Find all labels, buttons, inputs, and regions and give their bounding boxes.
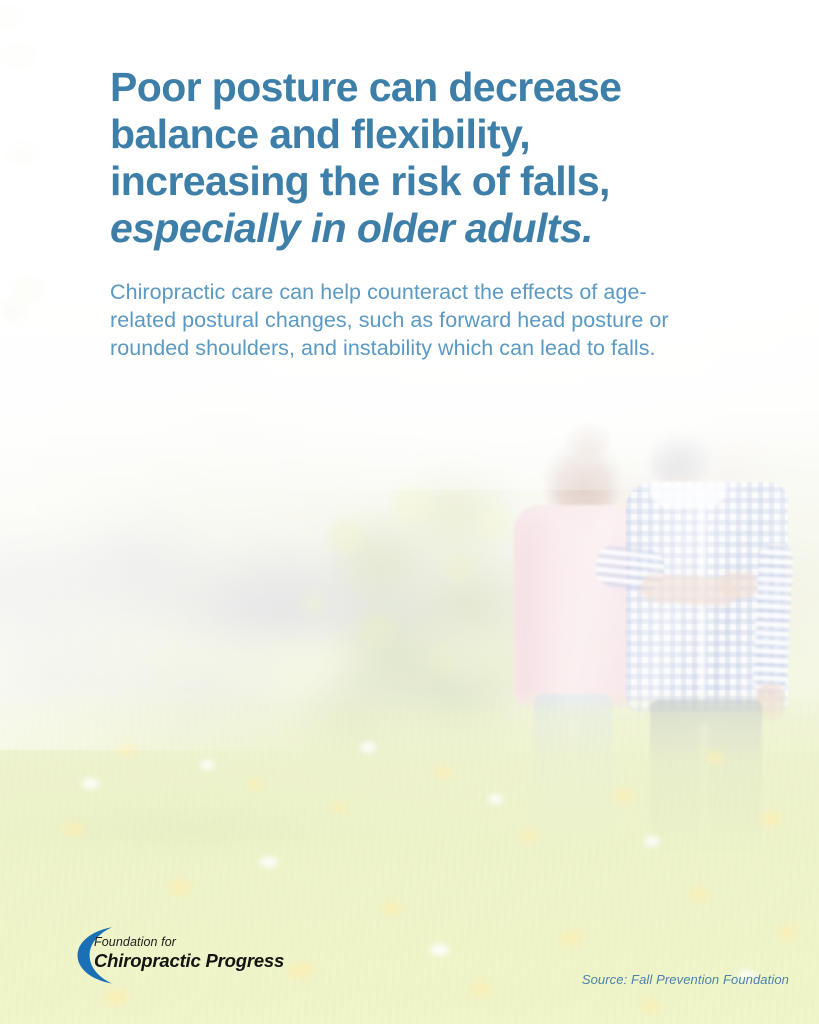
poster-canvas: Poor posture can decrease balance and fl… — [0, 0, 819, 1024]
yellow-flower — [118, 742, 138, 755]
white-flower — [200, 760, 214, 770]
white-flower — [82, 778, 99, 789]
logo-line-foundation-for: Foundation for — [94, 935, 284, 949]
yellow-flower — [330, 802, 346, 813]
white-flower — [260, 856, 278, 868]
yellow-flower — [382, 902, 402, 915]
yellow-flower — [434, 766, 453, 779]
headline-line-1: Poor posture can decrease — [110, 64, 621, 110]
source-attribution: Source: Fall Prevention Foundation — [582, 971, 789, 989]
woman-hair-bun — [566, 424, 610, 458]
white-flower — [488, 794, 503, 804]
yellow-flower — [470, 982, 492, 996]
white-flower — [430, 944, 449, 956]
yellow-flower — [640, 1000, 660, 1013]
yellow-flower — [246, 778, 263, 790]
logo-wordmark: Foundation for Chiropractic Progress — [94, 935, 284, 971]
yellow-flower — [62, 822, 84, 836]
page-title: Poor posture can decrease balance and fl… — [110, 64, 700, 252]
subcopy-paragraph: Chiropractic care can help counteract th… — [110, 278, 678, 362]
yellow-flower — [168, 880, 192, 895]
man-left-hand — [720, 572, 758, 598]
white-flower — [360, 742, 376, 753]
headline-line-4-emphasis: especially in older adults. — [110, 205, 700, 252]
yellow-flower — [778, 926, 798, 939]
yellow-flower — [104, 990, 128, 1005]
yellow-flower — [690, 888, 709, 901]
white-flower — [644, 836, 660, 847]
foundation-logo[interactable]: Foundation for Chiropractic Progress — [68, 924, 308, 986]
yellow-flower — [706, 752, 724, 764]
man-shirt-collar — [650, 482, 726, 508]
headline-line-3: increasing the risk of falls, — [110, 158, 610, 204]
yellow-flower — [560, 930, 583, 945]
yellow-flower — [520, 830, 538, 842]
yellow-flower — [760, 812, 782, 826]
woman-shirt-shadow — [518, 520, 558, 700]
headline-line-2: balance and flexibility, — [110, 111, 530, 157]
text-content-block: Poor posture can decrease balance and fl… — [110, 64, 700, 362]
logo-line-chiropractic-progress: Chiropractic Progress — [94, 950, 284, 971]
yellow-flower — [614, 788, 635, 802]
